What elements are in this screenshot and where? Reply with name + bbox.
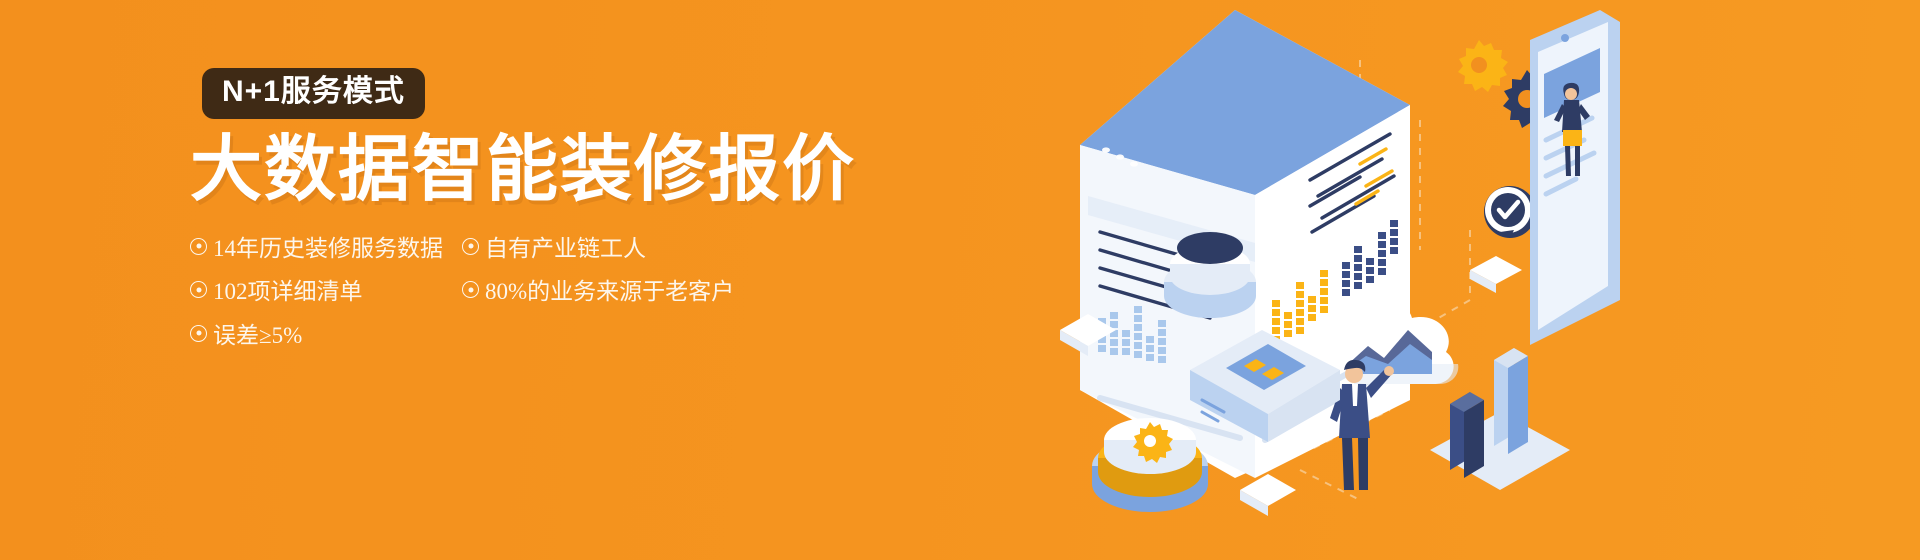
- list-item-label: 80%的业务来源于老客户: [485, 278, 734, 306]
- list-item: 80%的业务来源于老客户: [462, 278, 722, 306]
- coin-stack: [1092, 418, 1208, 512]
- bullet-column-left: 14年历史装修服务数据 102项详细清单 误差≥5%: [190, 235, 440, 350]
- page-title: 大数据智能装修报价: [190, 133, 830, 209]
- banner-text-block: N+1服务模式 大数据智能装修报价 14年历史装修服务数据 102项详细清单 误…: [190, 68, 830, 349]
- circled-dot-icon: [462, 281, 479, 298]
- circled-dot-icon: [190, 238, 207, 255]
- bullet-column-right: 自有产业链工人 80%的业务来源于老客户: [462, 235, 722, 350]
- service-model-badge: N+1服务模式: [202, 68, 425, 119]
- circled-dot-icon: [190, 281, 207, 298]
- floating-tile: [1470, 256, 1522, 293]
- list-item: 误差≥5%: [190, 322, 440, 350]
- promo-banner: N+1服务模式 大数据智能装修报价 14年历史装修服务数据 102项详细清单 误…: [0, 0, 1920, 560]
- coin-stack: [1164, 232, 1256, 318]
- floating-tile: [1240, 474, 1296, 516]
- list-item: 14年历史装修服务数据: [190, 235, 440, 263]
- list-item: 102项详细清单: [190, 278, 440, 306]
- list-item-label: 误差≥5%: [213, 322, 302, 350]
- circled-dot-icon: [190, 325, 207, 342]
- list-item: 自有产业链工人: [462, 235, 722, 263]
- list-item-label: 自有产业链工人: [485, 235, 646, 263]
- feature-bullet-list: 14年历史装修服务数据 102项详细清单 误差≥5% 自有产业链工人: [190, 235, 830, 350]
- gear-yellow: [1458, 40, 1508, 92]
- list-item-label: 14年历史装修服务数据: [213, 235, 443, 263]
- circled-dot-icon: [462, 238, 479, 255]
- check-badge: [1484, 186, 1536, 238]
- smartphone-device: [1530, 10, 1620, 345]
- isometric-illustration: [1060, 0, 1620, 560]
- list-item-label: 102项详细清单: [213, 278, 363, 306]
